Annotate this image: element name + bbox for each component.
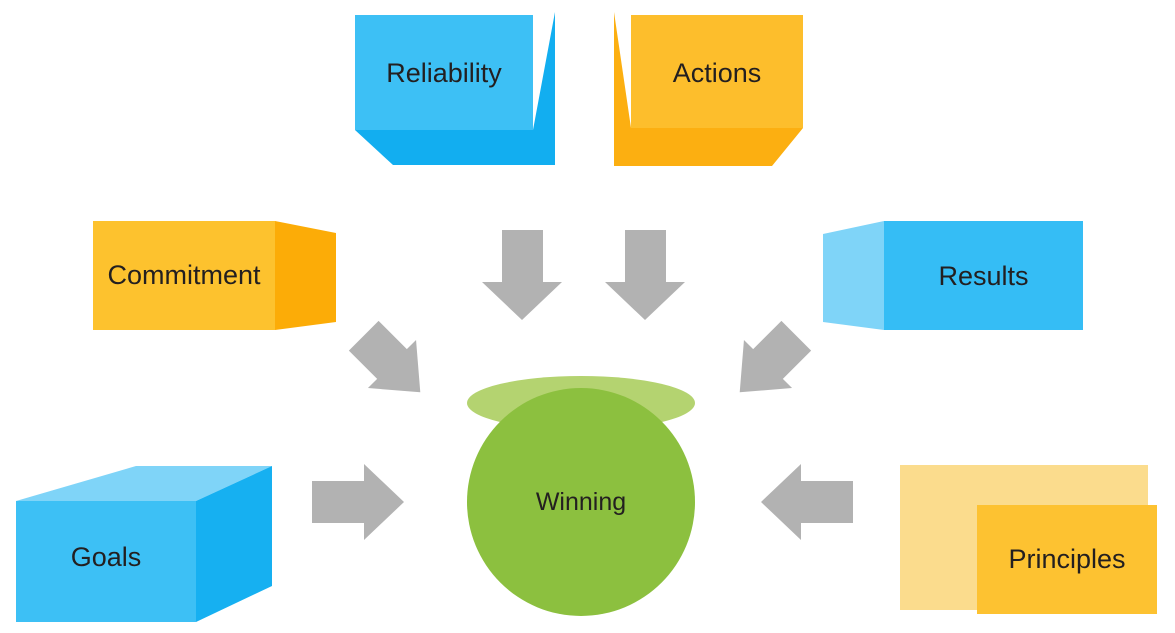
arrow-reliability-to-center (482, 230, 562, 320)
arrow-actions-to-center (605, 230, 685, 320)
center-winning-shape[interactable] (467, 376, 695, 616)
node-reliability[interactable] (355, 12, 555, 165)
arrow-results-to-center (716, 312, 821, 417)
commitment-side-face (275, 221, 336, 330)
goals-front-face (16, 501, 196, 622)
results-side-face (823, 221, 884, 330)
node-results[interactable] (823, 221, 1083, 330)
node-commitment[interactable] (93, 221, 336, 330)
actions-front-face (631, 15, 803, 128)
arrow-goals-to-center (312, 464, 404, 540)
diagram-svg (0, 0, 1175, 633)
arrow-principles-to-center (761, 464, 853, 540)
node-goals[interactable] (16, 466, 272, 622)
reliability-front-face (355, 15, 533, 130)
arrow-commitment-to-center (340, 312, 445, 417)
center-circle (467, 388, 695, 616)
principles-front-face (977, 505, 1157, 614)
node-principles[interactable] (900, 465, 1157, 614)
node-actions[interactable] (614, 12, 803, 166)
results-front-face (884, 221, 1083, 330)
commitment-front-face (93, 221, 275, 330)
diagram-canvas: Reliability Actions Commitment Results G… (0, 0, 1175, 633)
